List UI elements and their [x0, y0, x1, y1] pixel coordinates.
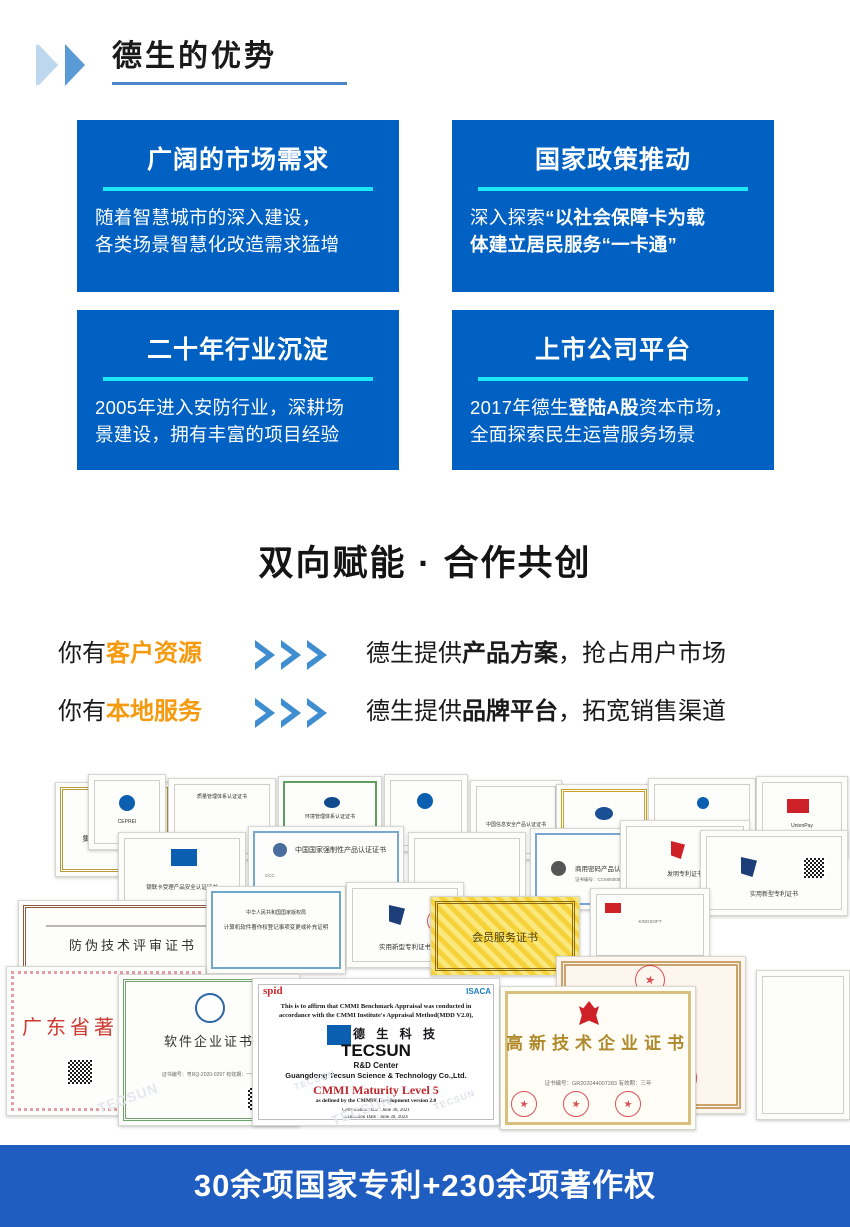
cmmi-line1: This is to affirm that CMMI Benchmark Ap…	[253, 1003, 499, 1010]
card-body-line: 景建设，拥有丰富的项目经验	[95, 421, 381, 448]
certificate-collage: 集成电路卡认证证书 ICCB CEPREI 质量管理体系认证证书 环境管理体系认…	[0, 770, 850, 1145]
card-body-line: 2017年德生登陆A股资本市场，	[470, 394, 756, 421]
certificate-item: KINGSOFT	[590, 888, 710, 962]
card-body-line: 体建立居民服务“一卡通”	[470, 231, 756, 258]
certificate-title: 质量管理体系认证证书	[169, 793, 275, 800]
certificate-title: 高新技术企业证书	[501, 1029, 695, 1054]
qr-code	[803, 857, 825, 879]
card-body-regular: 深入探索	[470, 207, 545, 228]
benefit-row: 你有客户资源 德生提供产品方案，抢占用户市场	[0, 632, 850, 690]
benefit-left-prefix: 你有	[58, 698, 106, 725]
card-body-line: 各类场景智慧化改造需求猛增	[95, 231, 381, 258]
certificate-title: CEPREI	[89, 819, 165, 825]
cmmi-line2: accordance with the CMMI Institute's App…	[253, 1012, 499, 1019]
benefit-left: 你有本地服务	[58, 690, 202, 734]
card-title: 上市公司平台	[452, 333, 774, 367]
certificate-title: UnionPay	[757, 823, 847, 829]
benefit-left: 你有客户资源	[58, 632, 202, 676]
certificate-title: 中国国家强制性产品认证证书	[295, 845, 403, 855]
benefit-right-bold: 产品方案	[462, 640, 558, 667]
certificate-item: 高新技术企业证书 证书编号：GR202044007283 有效期：三年	[500, 986, 696, 1130]
benefit-left-highlight: 本地服务	[106, 698, 202, 725]
certificate-title: 中华人民共和国国家版权局	[207, 909, 345, 916]
card-divider	[103, 377, 373, 381]
tecsun-brand-en: TECSUN	[253, 1041, 499, 1061]
benefit-right-bold: 品牌平台	[462, 698, 558, 725]
card-body-line: 全面探索民生运营服务场景	[470, 421, 756, 448]
benefit-left-prefix: 你有	[58, 640, 106, 667]
card-title: 广阔的市场需求	[77, 143, 399, 177]
triple-chevron-right-icon	[253, 694, 338, 732]
section-header: 德生的优势	[0, 34, 850, 96]
certificate-item: 实用新型专利证书	[700, 830, 848, 916]
advantage-card[interactable]: 上市公司平台 2017年德生登陆A股资本市场， 全面探索民生运营服务场景	[452, 310, 774, 470]
card-body: 2005年进入安防行业，深耕场 景建设，拥有丰富的项目经验	[95, 394, 381, 448]
spid-logo: spid	[263, 985, 283, 997]
cmmi-rd-center: R&D Center	[253, 1061, 499, 1070]
card-body-bold: “以社会保障卡为载	[545, 207, 705, 228]
card-body-bold: 登陆A股	[569, 397, 639, 418]
cmmi-company: Guangdong Tecsun Science & Technology Co…	[253, 1071, 499, 1080]
certificate-item	[756, 970, 850, 1120]
page-title: 德生的优势	[112, 36, 277, 78]
certificate-item: 中华人民共和国国家版权局 计算机软件著作权登记事项变更或补充证明	[206, 886, 346, 974]
double-chevron-right-icon	[36, 42, 102, 88]
card-body: 随着智慧城市的深入建设， 各类场景智慧化改造需求猛增	[95, 204, 381, 258]
isaca-logo: ISACA	[466, 987, 491, 996]
benefit-left-highlight: 客户资源	[106, 640, 202, 667]
benefit-right: 德生提供品牌平台，拓宽销售渠道	[366, 690, 726, 734]
advantage-card[interactable]: 二十年行业沉淀 2005年进入安防行业，深耕场 景建设，拥有丰富的项目经验	[77, 310, 399, 470]
promo-page: 德生的优势 广阔的市场需求 随着智慧城市的深入建设， 各类场景智慧化改造需求猛增…	[0, 0, 850, 1227]
red-seal-icon	[511, 1091, 537, 1117]
red-seal-icon	[563, 1091, 589, 1117]
certificate-title: 环境管理体系认证证书	[279, 813, 381, 820]
benefit-right-prefix: 德生提供	[366, 640, 462, 667]
card-divider	[103, 187, 373, 191]
card-title: 国家政策推动	[452, 143, 774, 177]
certificate-title: 计算机软件著作权登记事项变更或补充证明	[207, 923, 345, 931]
advantage-card[interactable]: 国家政策推动 深入探索“以社会保障卡为载 体建立居民服务“一卡通”	[452, 120, 774, 292]
certificate-title: 会员服务证书	[431, 929, 579, 945]
certificate-title: 中国信息安全产品认证证书	[471, 821, 561, 828]
card-title: 二十年行业沉淀	[77, 333, 399, 367]
card-body: 深入探索“以社会保障卡为载 体建立居民服务“一卡通”	[470, 204, 756, 258]
title-underline	[112, 82, 347, 85]
advantage-cards: 广阔的市场需求 随着智慧城市的深入建设， 各类场景智慧化改造需求猛增 国家政策推…	[0, 120, 850, 480]
tecsun-brand-cn: 德 生 科 技	[353, 1025, 499, 1042]
card-body-bold: 体建立居民服务“一卡通”	[470, 234, 677, 255]
certificate-sub: 证书编号：GR202044007283 有效期：三年	[501, 1079, 695, 1087]
card-divider	[478, 377, 748, 381]
section-subtitle: 双向赋能 · 合作共创	[0, 540, 850, 588]
benefit-right: 德生提供产品方案，抢占用户市场	[366, 632, 726, 676]
certificate-title: 实用新型专利证书	[701, 889, 847, 898]
benefit-rows: 你有客户资源 德生提供产品方案，抢占用户市场 你有本地服务 德生提供品牌平台，拓…	[0, 632, 850, 748]
benefit-row: 你有本地服务 德生提供品牌平台，拓宽销售渠道	[0, 690, 850, 748]
red-seal-icon	[615, 1091, 641, 1117]
benefit-right-suffix: ，拓宽销售渠道	[558, 698, 726, 725]
cmmi-exp-date: Expiration Date : June 30, 2024	[253, 1115, 499, 1120]
advantage-card[interactable]: 广阔的市场需求 随着智慧城市的深入建设， 各类场景智慧化改造需求猛增	[77, 120, 399, 292]
benefit-right-prefix: 德生提供	[366, 698, 462, 725]
card-divider	[478, 187, 748, 191]
card-body-line: 深入探索“以社会保障卡为载	[470, 204, 756, 231]
certificate-sub: CCC	[265, 873, 403, 878]
banner-text: 30余项国家专利+230余项著作权	[194, 1165, 656, 1207]
card-body-line: 随着智慧城市的深入建设，	[95, 204, 381, 231]
triple-chevron-right-icon	[253, 636, 338, 674]
card-body-regular: 2017年德生	[470, 397, 569, 418]
benefit-right-suffix: ，抢占用户市场	[558, 640, 726, 667]
bottom-banner: 30余项国家专利+230余项著作权	[0, 1145, 850, 1227]
card-body-line: 2005年进入安防行业，深耕场	[95, 394, 381, 421]
qr-code	[67, 1059, 93, 1085]
certificate-sub: KINGSOFT	[591, 919, 709, 924]
card-body-regular: 资本市场，	[639, 397, 733, 418]
card-body: 2017年德生登陆A股资本市场， 全面探索民生运营服务场景	[470, 394, 756, 448]
